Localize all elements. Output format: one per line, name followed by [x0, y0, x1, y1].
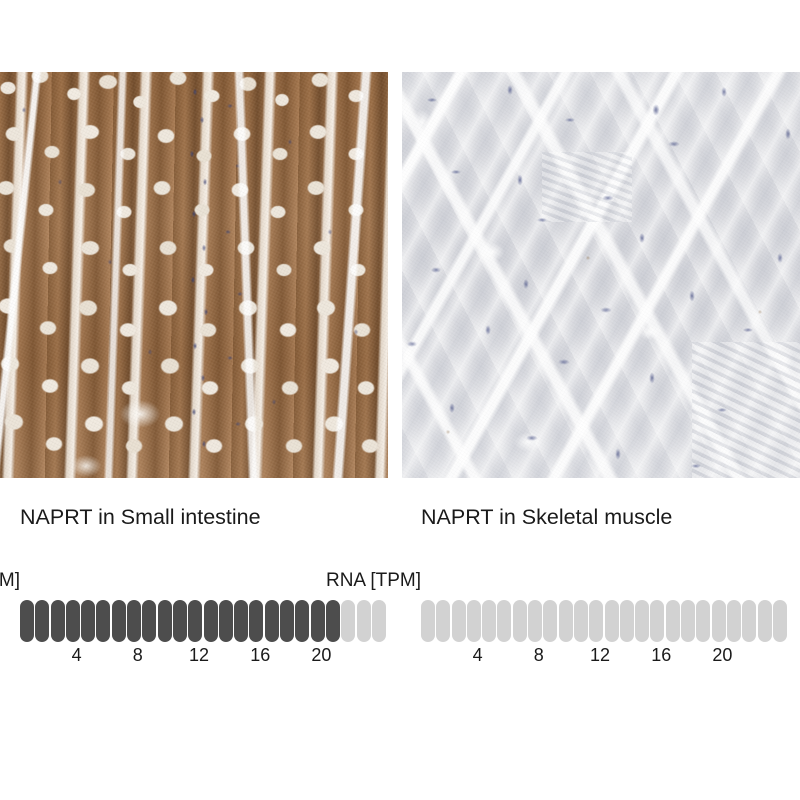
- rna-tick-label: 16: [651, 644, 671, 666]
- rna-segment: [173, 600, 187, 642]
- rna-segment: [158, 600, 172, 642]
- rna-segment: [513, 600, 527, 642]
- rna-segment: [188, 600, 202, 642]
- rna-segment: [81, 600, 95, 642]
- rna-segment: [528, 600, 542, 642]
- rna-segment: [467, 600, 481, 642]
- rna-segment: [219, 600, 233, 642]
- rna-segment-row-skeletal-muscle[interactable]: [421, 600, 788, 642]
- rna-segment: [742, 600, 756, 642]
- rna-segment: [635, 600, 649, 642]
- rna-tick-row-skeletal-muscle: 48121620: [421, 644, 788, 666]
- rna-segment: [482, 600, 496, 642]
- rna-segment: [234, 600, 248, 642]
- rna-segment: [142, 600, 156, 642]
- rna-segment: [20, 600, 34, 642]
- rna-segment: [497, 600, 511, 642]
- rna-segment: [112, 600, 126, 642]
- rna-segment: [204, 600, 218, 642]
- rna-segment: [727, 600, 741, 642]
- rna-segment: [311, 600, 325, 642]
- rna-segment: [712, 600, 726, 642]
- rna-tick-label: 12: [590, 644, 610, 666]
- rna-segment: [280, 600, 294, 642]
- rna-segment: [681, 600, 695, 642]
- rna-tick-row-small-intestine: 48121620: [20, 644, 387, 666]
- rna-segment: [295, 600, 309, 642]
- rna-segment: [51, 600, 65, 642]
- tissue-texture-skeletal-muscle: [402, 72, 800, 478]
- rna-segment: [773, 600, 787, 642]
- rna-segment: [265, 600, 279, 642]
- rna-tick-label: 12: [189, 644, 209, 666]
- rna-segment: [326, 600, 340, 642]
- rna-segment: [96, 600, 110, 642]
- rna-segment: [341, 600, 355, 642]
- rna-tick-label: 8: [534, 644, 544, 666]
- rna-tpm-label-small-intestine: RNA [TPM]: [0, 570, 20, 592]
- image-grain-small-intestine: [0, 72, 388, 478]
- rna-segment: [249, 600, 263, 642]
- caption-skeletal-muscle: NAPRT in Skeletal muscle: [421, 504, 672, 530]
- rna-tick-label: 4: [473, 644, 483, 666]
- rna-segment: [559, 600, 573, 642]
- rna-segment-row-small-intestine[interactable]: [20, 600, 387, 642]
- caption-small-intestine: NAPRT in Small intestine: [20, 504, 261, 530]
- rna-segment: [650, 600, 664, 642]
- rna-tick-label: 4: [72, 644, 82, 666]
- rna-segment: [35, 600, 49, 642]
- ihc-comparison-figure: NAPRT in Small intestine NAPRT in Skelet…: [0, 0, 800, 800]
- rna-segment: [127, 600, 141, 642]
- rna-segment: [452, 600, 466, 642]
- tissue-texture-small-intestine: [0, 72, 388, 478]
- rna-tick-label: 20: [712, 644, 732, 666]
- rna-segment: [421, 600, 435, 642]
- rna-segment: [372, 600, 386, 642]
- rna-tick-label: 16: [250, 644, 270, 666]
- rna-segment: [589, 600, 603, 642]
- rna-segment: [436, 600, 450, 642]
- micrograph-small-intestine[interactable]: [0, 72, 388, 478]
- rna-segment: [574, 600, 588, 642]
- rna-segment: [696, 600, 710, 642]
- rna-segment: [620, 600, 634, 642]
- micrograph-skeletal-muscle[interactable]: [402, 72, 800, 478]
- rna-segment: [357, 600, 371, 642]
- image-grain-skeletal-muscle: [402, 72, 800, 478]
- rna-tick-label: 20: [311, 644, 331, 666]
- rna-segment: [605, 600, 619, 642]
- rna-segment: [66, 600, 80, 642]
- rna-segment: [543, 600, 557, 642]
- rna-tick-label: 8: [133, 644, 143, 666]
- rna-segment: [758, 600, 772, 642]
- rna-tpm-label-skeletal-muscle: RNA [TPM]: [326, 570, 421, 592]
- rna-segment: [666, 600, 680, 642]
